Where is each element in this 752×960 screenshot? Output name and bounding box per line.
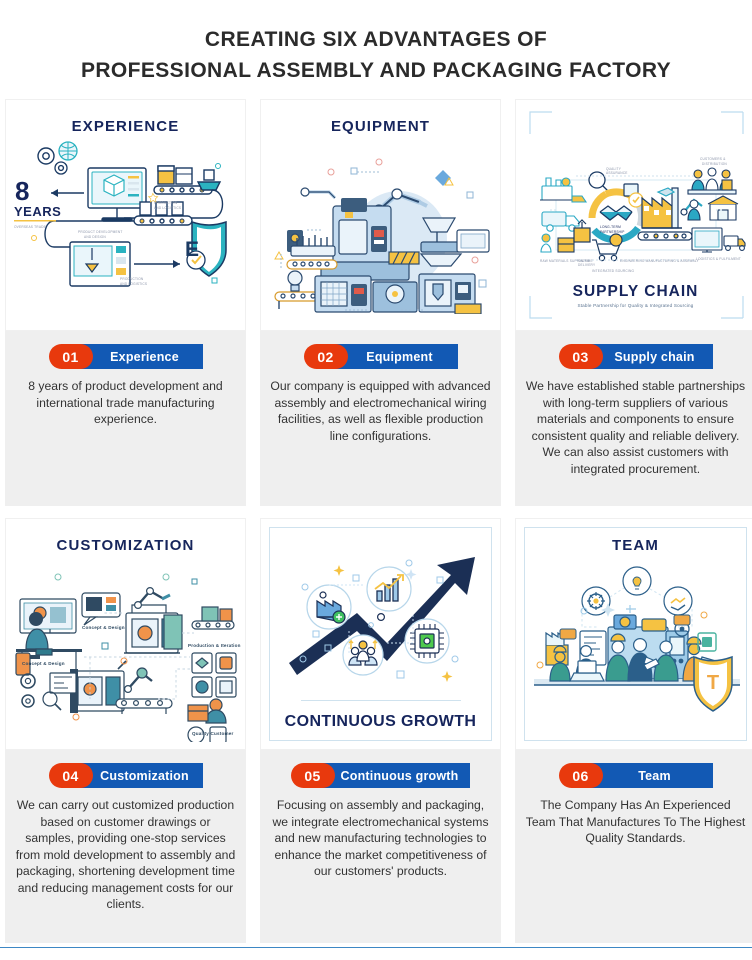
illustration-title-experience: EXPERIENCE — [6, 100, 245, 135]
badge-number-circle-02: 02 — [304, 344, 348, 369]
badge-number-circle-03: 03 — [559, 344, 603, 369]
supply-label-logistics: LOGISTICS & FULFILMENT — [696, 257, 741, 261]
illustration-title-continuous-growth: CONTINUOUS GROWTH — [261, 713, 500, 731]
badge-number-02: 02 — [317, 349, 333, 365]
advantage-card-03[interactable]: RAW MATERIALS SUPPLIERS ON-TIME DELIVERY… — [515, 99, 752, 506]
card-body-03: Supply chain 03 We have established stab… — [515, 331, 752, 506]
badge-01: Experience 01 — [49, 344, 203, 369]
customization-label-production: Production & Iteration — [188, 643, 241, 648]
supply-label-longterm-b: PARTNERSHIP — [600, 230, 625, 234]
team-shield-letter: T — [707, 672, 719, 694]
advantage-card-05[interactable]: CONTINUOUS GROWTH Continuous growth 05 F… — [260, 518, 501, 943]
card-illustration-equipment: EQUIPMENT — [260, 99, 501, 331]
card-body-02: Equipment 02 Our company is equipped wit… — [260, 331, 501, 506]
badge-number-06: 06 — [572, 768, 588, 784]
illustration-title-equipment: EQUIPMENT — [261, 100, 500, 135]
badge-05: Continuous growth 05 — [291, 763, 471, 788]
customization-label-concept-2: Concept & Design — [22, 661, 65, 666]
advantages-infographic: CREATING SIX ADVANTAGES OF PROFESSIONAL … — [0, 0, 752, 960]
badge-number-circle-05: 05 — [291, 763, 335, 788]
experience-years-number: 8 — [15, 176, 29, 206]
illustration-title-customization: CUSTOMIZATION — [6, 519, 245, 554]
advantage-card-01[interactable]: EXPERIENCE — [5, 99, 246, 506]
card-body-05: Continuous growth 05 Focusing on assembl… — [260, 750, 501, 943]
badge-number-circle-04: 04 — [49, 763, 93, 788]
experience-years-sub: OVERSEAS TRADE — [14, 225, 46, 229]
badge-number-04: 04 — [62, 768, 78, 784]
badge-number-05: 05 — [304, 768, 320, 784]
badge-number-01: 01 — [62, 349, 78, 365]
badge-number-circle-01: 01 — [49, 344, 93, 369]
advantage-card-06[interactable]: TEAM — [515, 518, 752, 943]
experience-node-3a: PRODUCTION — [120, 277, 144, 281]
badge-label-04: Customization — [100, 769, 189, 783]
experience-node-2b: AND LOGISTICS — [154, 206, 181, 210]
card-body-06: Team 06 The Company Has An Experienced T… — [515, 750, 752, 943]
experience-node-1a: PRODUCT DEVELOPMENT — [78, 230, 122, 234]
supply-label-qa-b: ASSURANCE — [606, 171, 628, 175]
advantage-card-02[interactable]: EQUIPMENT — [260, 99, 501, 506]
supply-label-integrated: INTEGRATED SOURCING — [592, 269, 634, 273]
growth-illustration-svg — [261, 535, 501, 685]
svg-text:E: E — [185, 238, 199, 261]
illustration-subtitle-supply-chain: Stable Partnership for Quality & Integra… — [516, 303, 752, 308]
customization-illustration-svg: Concept & Design Concept & Design Produc… — [6, 557, 246, 742]
badge-04: Customization 04 — [49, 763, 203, 788]
card-illustration-experience: EXPERIENCE — [5, 99, 246, 331]
experience-node-1b: AND DESIGN — [84, 235, 106, 239]
advantage-card-grid: EXPERIENCE — [0, 99, 752, 943]
card-description-03: We have established stable partnerships … — [525, 378, 746, 477]
badge-number-03: 03 — [572, 349, 588, 365]
experience-years-word: YEARS — [14, 204, 61, 219]
badge-label-06: Team — [638, 769, 671, 783]
customization-label-concept-1: Concept & Design — [82, 625, 125, 630]
illustration-title-supply-chain: SUPPLY CHAIN — [516, 283, 752, 301]
card-description-01: 8 years of product development and inter… — [15, 378, 236, 428]
badge-03: Supply chain 03 — [559, 344, 713, 369]
card-body-04: Customization 04 We can carry out custom… — [5, 750, 246, 943]
badge-label-01: Experience — [110, 350, 179, 364]
badge-02: Equipment 02 — [304, 344, 458, 369]
card-description-05: Focusing on assembly and packaging, we i… — [270, 797, 491, 880]
footer-rule — [0, 947, 752, 948]
supply-label-customers-a: CUSTOMERS & — [700, 157, 726, 161]
customization-label-quality: Quality Customer — [192, 731, 234, 736]
card-illustration-supply-chain: RAW MATERIALS SUPPLIERS ON-TIME DELIVERY… — [515, 99, 752, 331]
supply-label-longterm-a: LONG-TERM — [600, 225, 621, 229]
page-title-line-2: PROFESSIONAL ASSEMBLY AND PACKAGING FACT… — [0, 55, 752, 86]
card-body-01: Experience 01 8 years of product develop… — [5, 331, 246, 506]
badge-label-03: Supply chain — [614, 350, 694, 364]
supply-label-on-time-b: DELIVERY — [578, 263, 596, 267]
card-illustration-team: TEAM — [515, 518, 752, 750]
page-title-line-1: CREATING SIX ADVANTAGES OF — [0, 24, 752, 55]
team-illustration-svg: T — [516, 553, 752, 723]
card-description-04: We can carry out customized production b… — [15, 797, 236, 913]
page-title: CREATING SIX ADVANTAGES OF PROFESSIONAL … — [0, 0, 752, 86]
experience-node-2a: PRODUCTION — [154, 201, 178, 205]
card-illustration-continuous-growth: CONTINUOUS GROWTH — [260, 518, 501, 750]
equipment-illustration-svg — [261, 134, 501, 314]
badge-label-05: Continuous growth — [341, 769, 459, 783]
badge-06: Team 06 — [559, 763, 713, 788]
card-description-02: Our company is equipped with advanced as… — [270, 378, 491, 444]
supply-label-customers-b: DISTRIBUTION — [702, 162, 727, 166]
card-description-06: The Company Has An Experienced Team That… — [525, 797, 746, 847]
experience-illustration-svg: E 8 YEARS OVERSEAS TRADE PRODUCT DEVELOP… — [6, 138, 246, 318]
advantage-card-04[interactable]: CUSTOMIZATION — [5, 518, 246, 943]
experience-node-3b: AND LOGISTICS — [120, 282, 147, 286]
badge-label-02: Equipment — [366, 350, 432, 364]
card-illustration-customization: CUSTOMIZATION — [5, 518, 246, 750]
supply-label-manufacturing: ENGINEERING MANUFACTURING & ASSEMBLY — [620, 259, 700, 263]
badge-number-circle-06: 06 — [559, 763, 603, 788]
